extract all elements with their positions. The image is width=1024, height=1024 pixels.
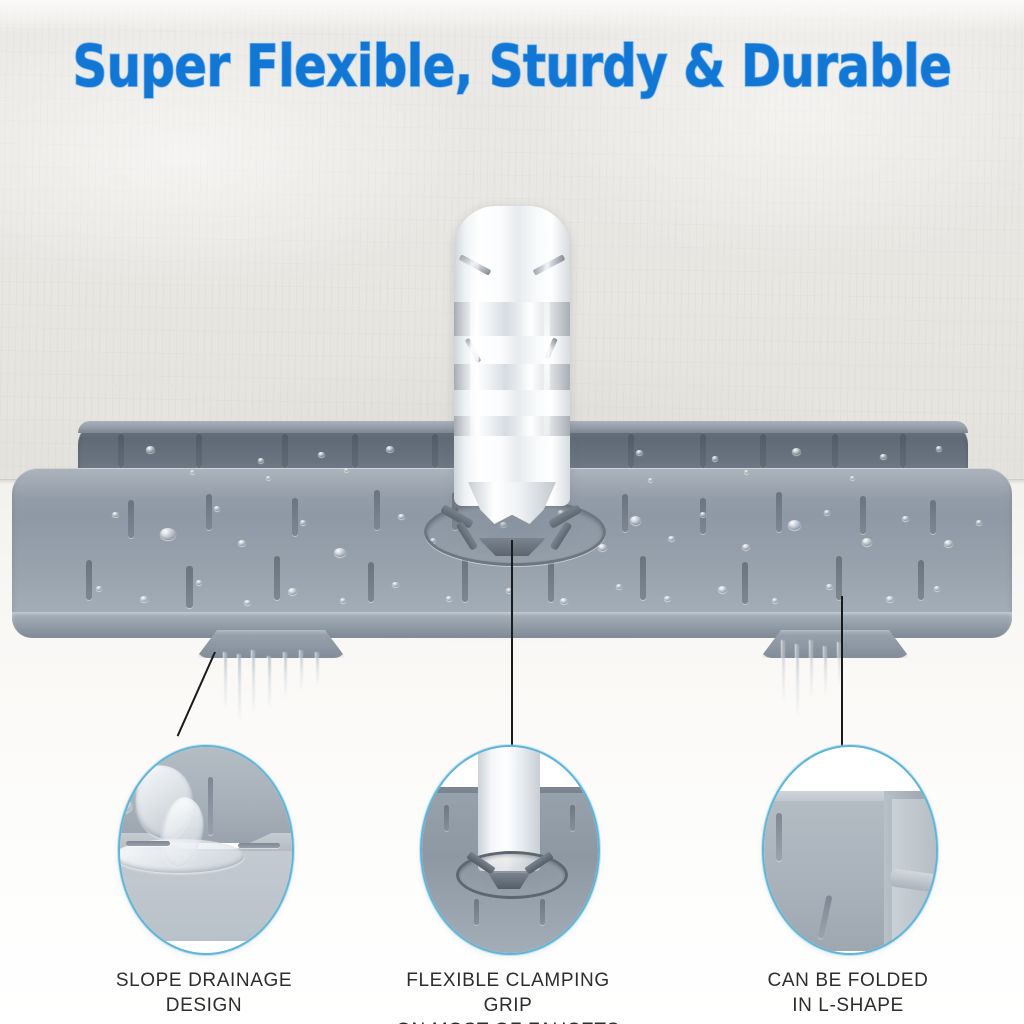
water-droplet <box>196 580 202 585</box>
water-droplet <box>936 446 942 451</box>
mat-surface-ridge <box>548 560 554 602</box>
water-droplet <box>288 588 297 595</box>
mat-surface-ridge <box>742 562 748 604</box>
faucet-highlight-right <box>544 220 550 490</box>
chrome-faucet <box>440 206 584 536</box>
water-droplet <box>944 540 953 547</box>
caption-slope-drainage: SLOPE DRAINAGE DESIGN <box>84 968 324 1018</box>
water-trickle <box>810 640 813 698</box>
water-droplet <box>300 520 306 525</box>
water-droplet <box>344 468 349 472</box>
caption-slope-drainage-line1: SLOPE DRAINAGE <box>84 968 324 993</box>
water-droplet <box>258 458 264 463</box>
callout-slope-drainage <box>118 745 294 955</box>
water-droplet <box>598 544 607 551</box>
caption-clamping-grip: FLEXIBLE CLAMPING GRIP ON MOST OF FAUCET… <box>388 968 628 1024</box>
callout2-ridge-1 <box>444 805 449 831</box>
callout1-ridge-3 <box>238 843 280 848</box>
water-droplet <box>718 586 727 593</box>
mat-surface-ridge <box>128 500 134 538</box>
mat-surface-ridge <box>622 494 628 532</box>
mat-surface-ridge <box>206 494 212 530</box>
caption-clamping-grip-line1: FLEXIBLE CLAMPING GRIP <box>388 968 628 1018</box>
water-droplet <box>792 448 801 455</box>
mat-lip-ridge <box>432 434 438 468</box>
mat-lip-ridge <box>282 434 288 468</box>
leader-line-right <box>841 596 843 746</box>
callout-clamping-grip <box>420 745 600 955</box>
mat-surface-ridge <box>374 490 380 530</box>
water-trickle <box>782 640 785 702</box>
mat-surface-ridge <box>860 496 866 534</box>
mat-lip-ridge <box>352 434 358 468</box>
water-trickle <box>300 650 303 690</box>
callout2-ridge-4 <box>540 899 545 925</box>
caption-slope-drainage-line2: DESIGN <box>84 993 324 1018</box>
water-droplet <box>446 596 452 601</box>
caption-foldable-line1: CAN BE FOLDED <box>728 968 968 993</box>
caption-foldable: CAN BE FOLDED IN L-SHAPE <box>728 968 968 1018</box>
mat-lip-ridge <box>900 434 906 468</box>
mat-surface-ridge <box>776 492 782 532</box>
water-droplet <box>616 584 622 589</box>
water-trickle <box>268 656 271 708</box>
mat-surface-ridge <box>930 500 936 534</box>
callout2-ridge-2 <box>570 805 575 831</box>
water-droplet <box>862 538 872 546</box>
mat-drain-spout-left <box>196 630 346 658</box>
mat-surface-ridge <box>274 556 280 600</box>
water-droplet <box>712 456 718 461</box>
water-droplet <box>190 470 195 474</box>
water-trickle <box>252 650 255 714</box>
water-droplet <box>340 598 346 603</box>
water-droplet <box>214 506 220 511</box>
water-trickle <box>824 646 827 696</box>
water-trickle <box>224 652 227 710</box>
caption-foldable-line2: IN L-SHAPE <box>728 993 968 1018</box>
mat-lip-ridge <box>118 434 124 468</box>
callout1-ridge-2 <box>126 841 170 846</box>
mat-surface-ridge <box>86 560 92 600</box>
callout2-ridge-3 <box>474 899 479 925</box>
mat-lip-ridge <box>628 434 634 468</box>
water-trickle <box>284 652 287 698</box>
water-trickle <box>238 654 241 724</box>
mat-lip-ridge <box>832 434 838 468</box>
water-droplet <box>96 586 102 591</box>
faucet-base-skirt <box>468 482 556 524</box>
page-title: Super Flexible, Sturdy & Durable <box>41 34 983 98</box>
water-droplet <box>934 586 940 591</box>
mat-surface-ridge <box>918 560 924 600</box>
mat-surface-ridge <box>292 498 298 536</box>
callout1-ridge-1 <box>208 777 213 835</box>
top-fade <box>0 0 1024 34</box>
mat-lip-ridge <box>196 434 202 468</box>
mat-surface-ridge <box>640 556 646 600</box>
mat-surface-ridge <box>836 556 842 600</box>
water-droplet <box>824 510 830 515</box>
mat-lip-ridge <box>700 434 706 468</box>
water-droplet <box>266 476 271 480</box>
mat-surface-ridge <box>186 566 193 608</box>
water-trickle <box>316 652 319 686</box>
water-droplet <box>700 512 706 517</box>
mat-surface-ridge <box>368 562 374 602</box>
water-droplet <box>976 520 982 525</box>
callout-foldable <box>762 745 938 955</box>
faucet-highlight-left <box>470 216 479 496</box>
caption-clamping-grip-line2: ON MOST OF FAUCETS <box>388 1018 628 1024</box>
callout3-ridge-1 <box>776 813 782 861</box>
water-droplet <box>772 598 778 603</box>
water-droplet <box>630 516 641 525</box>
mat-lip-ridge <box>760 434 766 468</box>
product-infographic: Super Flexible, Sturdy & Durable <box>0 0 1024 1024</box>
water-trickle <box>796 644 799 718</box>
mat-surface-ridge <box>462 558 468 602</box>
water-droplet <box>744 470 749 474</box>
leader-line-center <box>511 540 513 746</box>
water-droplet <box>850 476 855 480</box>
water-droplet <box>146 446 155 453</box>
water-droplet <box>648 478 653 482</box>
